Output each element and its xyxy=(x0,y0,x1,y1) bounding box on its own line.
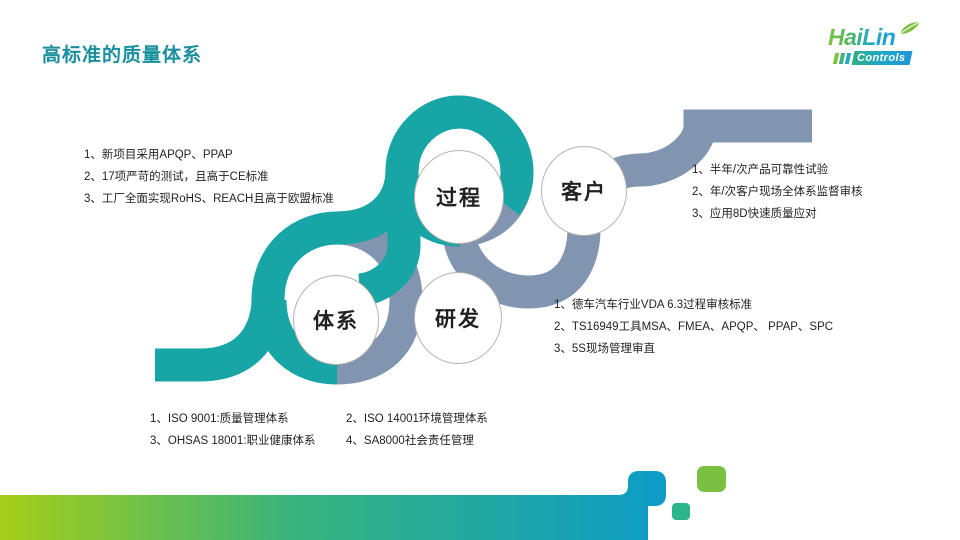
node-process[interactable]: 过程 xyxy=(414,150,504,244)
list-item: 3、OHSAS 18001:职业健康体系 4、SA8000社会责任管理 xyxy=(150,430,488,452)
list-item: 3、工厂全面实现RoHS、REACH且高于欧盟标准 xyxy=(84,188,334,210)
node-process-label: 过程 xyxy=(436,182,482,212)
node-rd-label: 研发 xyxy=(435,303,481,333)
list-item: 3、5S现场管理审直 xyxy=(554,338,833,360)
text-block-rd: 1、德车汽车行业VDA 6.3过程审核标准 2、TS16949工具MSA、FME… xyxy=(554,294,833,360)
node-customer[interactable]: 客户 xyxy=(541,146,627,236)
node-rd[interactable]: 研发 xyxy=(414,272,502,364)
footer-square-teal xyxy=(672,503,690,520)
text-block-customer: 1、半年/次产品可靠性试验 2、年/次客户现场全体系监督审核 3、应用8D快速质… xyxy=(692,159,863,225)
list-item: 1、半年/次产品可靠性试验 xyxy=(692,159,863,181)
node-customer-label: 客户 xyxy=(561,176,607,206)
list-item: 2、17项严苛的测试，且高于CE标准 xyxy=(84,166,334,188)
list-item: 1、德车汽车行业VDA 6.3过程审核标准 xyxy=(554,294,833,316)
list-item-right: 4、SA8000社会责任管理 xyxy=(346,430,474,452)
footer-bar xyxy=(0,471,666,540)
node-system[interactable]: 体系 xyxy=(293,275,379,365)
text-block-system: 1、ISO 9001:质量管理体系 2、ISO 14001环境管理体系 3、OH… xyxy=(150,408,488,452)
list-item: 1、新项目采用APQP、PPAP xyxy=(84,144,334,166)
footer-square-green xyxy=(697,466,726,492)
list-item-left: 3、OHSAS 18001:职业健康体系 xyxy=(150,430,346,452)
list-item: 2、TS16949工具MSA、FMEA、APQP、 PPAP、SPC xyxy=(554,316,833,338)
node-system-label: 体系 xyxy=(313,305,359,335)
list-item: 1、ISO 9001:质量管理体系 2、ISO 14001环境管理体系 xyxy=(150,408,488,430)
list-item-right: 2、ISO 14001环境管理体系 xyxy=(346,408,488,430)
text-block-process: 1、新项目采用APQP、PPAP 2、17项严苛的测试，且高于CE标准 3、工厂… xyxy=(84,144,334,210)
list-item: 2、年/次客户现场全体系监督审核 xyxy=(692,181,863,203)
list-item: 3、应用8D快速质量应对 xyxy=(692,203,863,225)
list-item-left: 1、ISO 9001:质量管理体系 xyxy=(150,408,346,430)
footer-decoration xyxy=(0,450,960,540)
